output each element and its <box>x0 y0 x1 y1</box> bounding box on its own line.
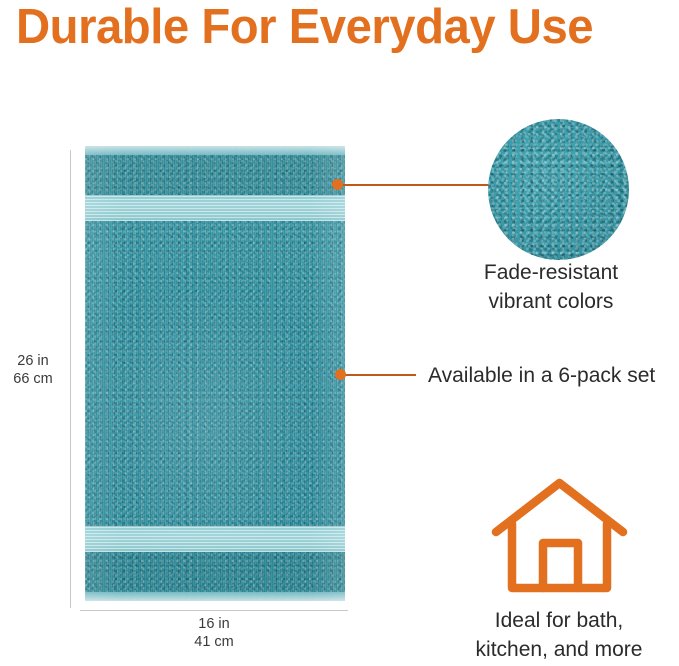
width-measure-line <box>80 610 348 611</box>
towel-dobby-border-bottom <box>85 526 345 552</box>
height-dimension-centimeters: 66 cm <box>2 370 64 388</box>
leader-line-fade-resistant <box>341 184 491 186</box>
house-icon <box>490 478 629 596</box>
leader-line-six-pack <box>344 374 416 376</box>
towel-hem-bottom <box>85 592 345 601</box>
callout-ideal-for-line2: kitchen, and more <box>449 635 669 664</box>
product-infographic: Durable For Everyday Use 26 in 66 cm 16 … <box>0 0 679 666</box>
height-measure-line <box>70 150 71 608</box>
page-title: Durable For Everyday Use <box>16 0 653 56</box>
width-dimension-inches: 16 in <box>80 615 348 633</box>
callout-ideal-for: Ideal for bath, kitchen, and more <box>449 606 669 664</box>
towel-product-image <box>85 146 345 601</box>
width-dimension-centimeters: 41 cm <box>80 633 348 651</box>
callout-fade-resistant: Fade-resistant vibrant colors <box>433 258 669 316</box>
leader-dot-fade-resistant <box>332 179 343 190</box>
fabric-swatch-circle-icon <box>488 119 629 260</box>
height-dimension-inches: 26 in <box>2 352 64 370</box>
callout-ideal-for-line1: Ideal for bath, <box>449 606 669 635</box>
callout-fade-resistant-line2: vibrant colors <box>433 287 669 316</box>
towel-terry-band-top <box>85 155 345 195</box>
width-dimension-label: 16 in 41 cm <box>80 615 348 651</box>
height-dimension-label: 26 in 66 cm <box>2 352 64 388</box>
callout-six-pack-line1: Available in a 6-pack set <box>428 361 679 390</box>
towel-dobby-border-top <box>85 195 345 221</box>
leader-dot-six-pack <box>335 369 346 380</box>
towel-terry-band-bottom <box>85 552 345 592</box>
callout-six-pack: Available in a 6-pack set <box>428 361 679 390</box>
callout-fade-resistant-line1: Fade-resistant <box>433 258 669 287</box>
towel-hem-top <box>85 146 345 155</box>
